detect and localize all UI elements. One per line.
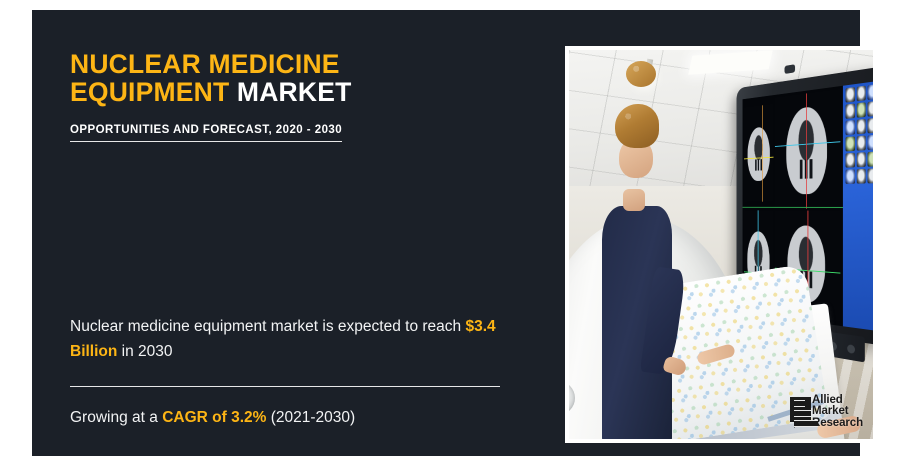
thumbnail-item: [867, 84, 873, 100]
infographic-canvas: NUCLEAR MEDICINE EQUIPMENT MARKET OPPORT…: [0, 0, 898, 470]
cagr-statement: Growing at a CAGR of 3.2% (2021-2030): [70, 406, 502, 431]
thumbnail-item: [856, 118, 865, 133]
scan-cell-top-right: [774, 88, 840, 208]
logo-bar: [794, 420, 818, 427]
scanner-control-dial[interactable]: [569, 381, 575, 415]
allied-market-research-logo: Allied Market Research: [790, 395, 863, 429]
brain-scan-image: [747, 125, 769, 180]
thumbnail-item: [845, 152, 854, 167]
market-value-trail: in 2030: [117, 343, 172, 360]
cagr-figure: CAGR of 3.2%: [162, 409, 266, 426]
thumbnail-item: [845, 136, 854, 151]
stats-block: Nuclear medicine equipment market is exp…: [70, 315, 502, 430]
thumbnail-item: [867, 134, 873, 149]
nurse-figure: [602, 206, 672, 439]
thumbnail-panel: [843, 80, 873, 331]
speech-bubble-icon: [790, 397, 811, 427]
headline-block: NUCLEAR MEDICINE EQUIPMENT MARKET OPPORT…: [70, 50, 510, 142]
thumbnail-item: [845, 87, 854, 103]
scanner-photo: Allied Market Research: [569, 50, 873, 439]
thumbnail-item: [867, 117, 873, 133]
crosshair-vertical: [762, 105, 763, 201]
logo-bars: [794, 400, 822, 430]
nurse-neck: [623, 189, 645, 211]
title-line2-highlight: EQUIPMENT: [70, 77, 229, 107]
thumbnail-item: [856, 102, 865, 118]
market-value-lead: Nuclear medicine equipment market is exp…: [70, 318, 465, 335]
thumbnail-item: [845, 119, 854, 134]
photo-frame: Allied Market Research: [565, 46, 877, 443]
thumbnail-item: [856, 168, 865, 183]
thumbnail-item: [856, 152, 865, 167]
nurse-hair: [615, 104, 659, 148]
cagr-lead: Growing at a: [70, 409, 162, 426]
thumbnail-item: [867, 151, 873, 166]
thumbnail-item: [856, 85, 865, 101]
thumbnail-item: [867, 168, 873, 183]
subtitle: OPPORTUNITIES AND FORECAST, 2020 - 2030: [70, 124, 342, 142]
market-value-statement: Nuclear medicine equipment market is exp…: [70, 315, 502, 365]
title-line2-plain: MARKET: [237, 77, 352, 107]
dark-panel: NUCLEAR MEDICINE EQUIPMENT MARKET OPPORT…: [32, 10, 860, 456]
stats-divider: [70, 386, 500, 387]
thumbnail-item: [856, 135, 865, 150]
scan-cell-top-left: [744, 104, 773, 202]
monitor-indicator: [846, 344, 854, 354]
crosshair-vertical: [806, 92, 807, 207]
thumbnail-item: [867, 100, 873, 116]
thumbnail-item: [845, 103, 854, 118]
nurse-hair-bun: [626, 61, 656, 87]
title-line1: NUCLEAR MEDICINE: [70, 49, 340, 79]
logo-bar: [794, 400, 805, 407]
cagr-trail: (2021-2030): [266, 409, 355, 426]
thumbnail-item: [845, 169, 854, 184]
monitor-camera-icon: [784, 64, 795, 74]
page-title: NUCLEAR MEDICINE EQUIPMENT MARKET: [70, 50, 510, 107]
logo-bar: [794, 410, 811, 417]
